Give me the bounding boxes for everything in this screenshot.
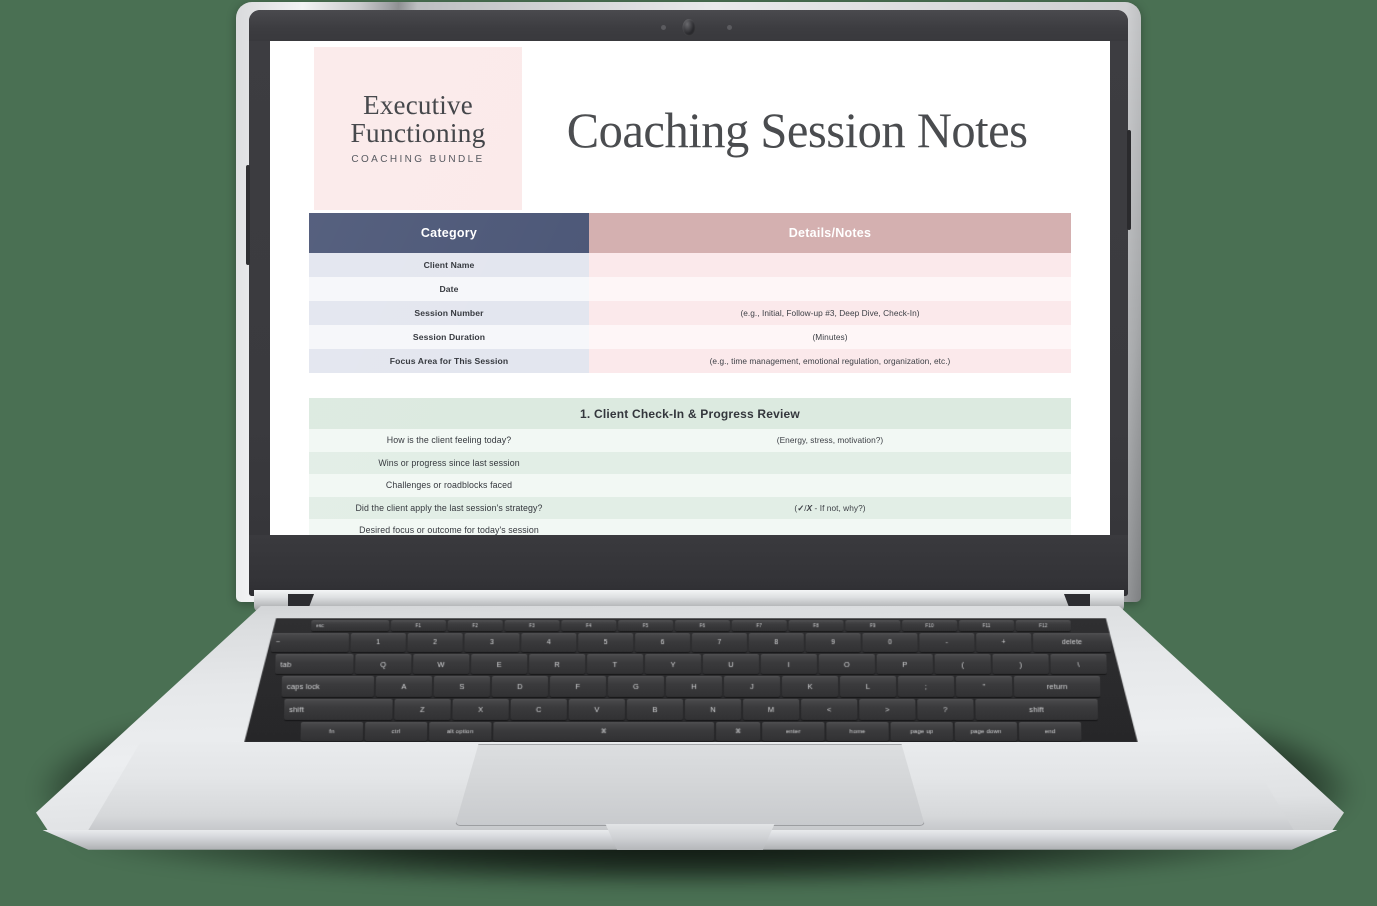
key-c[interactable]: C (511, 699, 567, 720)
table-row: Session Number (e.g., Initial, Follow-up… (309, 301, 1071, 325)
key-f7[interactable]: F7 (732, 620, 787, 631)
key-p[interactable]: P (877, 654, 933, 674)
table-row: Date (309, 277, 1071, 301)
table-row: Client Name (309, 253, 1071, 277)
key-9[interactable]: 9 (806, 633, 861, 652)
key-l[interactable]: L (840, 676, 896, 697)
base-front-notch (594, 824, 786, 850)
row-label: Date (309, 277, 589, 301)
key-8[interactable]: 8 (749, 633, 804, 652)
key-5[interactable]: 5 (578, 633, 633, 652)
key-tab[interactable]: tab (275, 654, 353, 674)
keyboard-row-numbers: ~1234567890-+delete (247, 633, 1135, 652)
key-alt-option[interactable]: alt option (429, 722, 491, 741)
key-[interactable]: ~ (271, 633, 349, 652)
session-info-table: Category Details/Notes Client Name Date (309, 213, 1071, 373)
row-label: Wins or progress since last session (309, 452, 589, 475)
key-fn[interactable]: fn (301, 722, 364, 741)
brand-logo: Executive Functioning COACHING BUNDLE (314, 47, 522, 210)
key-return[interactable]: return (1014, 676, 1101, 697)
key-[interactable]: > (859, 699, 915, 720)
session-info-body: Client Name Date Session Number (e.g., I… (309, 253, 1071, 373)
key-r[interactable]: R (529, 654, 585, 674)
lid-side-port-left (246, 165, 250, 265)
row-value[interactable]: (e.g., Initial, Follow-up #3, Deep Dive,… (589, 301, 1071, 325)
laptop-lid: Executive Functioning COACHING BUNDLE Co… (236, 2, 1141, 602)
row-value[interactable] (589, 474, 1071, 497)
key-u[interactable]: U (703, 654, 759, 674)
row-value[interactable] (589, 253, 1071, 277)
keyboard-row-qwerty: tabQWERTYUIOP()\ (246, 654, 1136, 674)
key-[interactable]: \ (1050, 654, 1106, 674)
key-[interactable]: < (801, 699, 857, 720)
key-z[interactable]: Z (394, 699, 450, 720)
row-value[interactable]: (✓/X - If not, why?) (589, 497, 1071, 520)
key-ctrl[interactable]: ctrl (365, 722, 428, 741)
table-row: Wins or progress since last session (309, 452, 1071, 475)
table-row: How is the client feeling today? (Energy… (309, 429, 1071, 452)
key-f1[interactable]: F1 (391, 620, 446, 631)
document-header: Executive Functioning COACHING BUNDLE Co… (270, 41, 1110, 213)
section-one-table: 1. Client Check-In & Progress Review How… (309, 398, 1071, 535)
key-[interactable]: ⌘ (493, 722, 714, 741)
key-6[interactable]: 6 (635, 633, 690, 652)
key-[interactable]: ⌘ (716, 722, 760, 741)
key-home[interactable]: home (826, 722, 888, 741)
key-f[interactable]: F (550, 676, 606, 697)
key-f11[interactable]: F11 (959, 620, 1014, 631)
keyboard[interactable]: escF1F2F3F4F5F6F7F8F9F10F11F12 ~12345678… (244, 618, 1137, 742)
row-label: Session Number (309, 301, 589, 325)
top-bezel (249, 10, 1128, 41)
row-value[interactable] (589, 277, 1071, 301)
key-[interactable]: " (956, 676, 1012, 697)
key-j[interactable]: J (724, 676, 780, 697)
logo-subtitle: COACHING BUNDLE (351, 154, 484, 165)
key-f9[interactable]: F9 (845, 620, 900, 631)
key-[interactable]: ( (935, 654, 991, 674)
key-w[interactable]: W (413, 654, 469, 674)
table-row: Challenges or roadblocks faced (309, 474, 1071, 497)
key-q[interactable]: Q (355, 654, 411, 674)
key-f6[interactable]: F6 (675, 620, 730, 631)
row-label: How is the client feeling today? (309, 429, 589, 452)
keyboard-rows: escF1F2F3F4F5F6F7F8F9F10F11F12 ~12345678… (244, 618, 1137, 742)
keyboard-row-function: escF1F2F3F4F5F6F7F8F9F10F11F12 (247, 620, 1134, 631)
row-value[interactable]: (e.g., time management, emotional regula… (589, 349, 1071, 373)
lid-side-port-right (1127, 130, 1131, 230)
key-e[interactable]: E (471, 654, 527, 674)
key-4[interactable]: 4 (521, 633, 576, 652)
key-f5[interactable]: F5 (618, 620, 673, 631)
key-a[interactable]: A (376, 676, 432, 697)
key-k[interactable]: K (782, 676, 838, 697)
key-f12[interactable]: F12 (1016, 620, 1071, 631)
row-value[interactable] (589, 452, 1071, 475)
trackpad[interactable] (455, 744, 925, 826)
key-caps-lock[interactable]: caps lock (282, 676, 375, 697)
key-[interactable]: - (919, 633, 974, 652)
key-m[interactable]: M (743, 699, 799, 720)
key-b[interactable]: B (627, 699, 683, 720)
key-shift[interactable]: shift (975, 699, 1098, 720)
key-shift[interactable]: shift (284, 699, 393, 720)
section-title-row: 1. Client Check-In & Progress Review (309, 398, 1071, 429)
key-3[interactable]: 3 (464, 633, 519, 652)
table-spacer (309, 373, 1071, 398)
row-value[interactable] (589, 519, 1071, 535)
key-x[interactable]: X (452, 699, 508, 720)
key-f4[interactable]: F4 (561, 620, 616, 631)
key-h[interactable]: H (666, 676, 722, 697)
key-0[interactable]: 0 (862, 633, 917, 652)
row-label: Desired focus or outcome for today's ses… (309, 519, 589, 535)
document-page: Executive Functioning COACHING BUNDLE Co… (270, 41, 1110, 535)
key-[interactable]: ) (993, 654, 1049, 674)
table-header-row: Category Details/Notes (309, 213, 1071, 253)
keyboard-row-bottom: shiftZXCVBNM<>?shift (245, 699, 1137, 720)
key-v[interactable]: V (569, 699, 625, 720)
key-i[interactable]: I (761, 654, 817, 674)
logo-line-2: Functioning (350, 119, 485, 147)
sensor-dot-left-icon (661, 25, 666, 30)
key-n[interactable]: N (685, 699, 741, 720)
column-header-category: Category (309, 213, 589, 253)
row-label: Focus Area for This Session (309, 349, 589, 373)
key-[interactable]: + (976, 633, 1031, 652)
table-row: Session Duration (Minutes) (309, 325, 1071, 349)
screenshot-stage: Executive Functioning COACHING BUNDLE Co… (0, 0, 1377, 906)
key-esc[interactable]: esc (311, 620, 389, 631)
row-label: Client Name (309, 253, 589, 277)
key-page-up[interactable]: page up (891, 722, 953, 741)
table-row: Desired focus or outcome for today's ses… (309, 519, 1071, 535)
column-header-details: Details/Notes (589, 213, 1071, 253)
key-enter[interactable]: enter (762, 722, 824, 741)
key-f10[interactable]: F10 (902, 620, 957, 631)
key-[interactable]: ? (917, 699, 973, 720)
table-row: Focus Area for This Session (e.g., time … (309, 349, 1071, 373)
row-value[interactable]: (Energy, stress, motivation?) (589, 429, 1071, 452)
key-d[interactable]: D (492, 676, 548, 697)
row-label: Challenges or roadblocks faced (309, 474, 589, 497)
key-[interactable]: ; (898, 676, 954, 697)
section-title: 1. Client Check-In & Progress Review (309, 398, 1071, 429)
key-7[interactable]: 7 (692, 633, 747, 652)
row-value[interactable]: (Minutes) (589, 325, 1071, 349)
page-title: Coaching Session Notes (530, 47, 1073, 155)
key-f3[interactable]: F3 (505, 620, 560, 631)
hint-suffix: - If not, why?) (812, 503, 865, 513)
row-label: Did the client apply the last session's … (309, 497, 589, 520)
key-o[interactable]: O (819, 654, 875, 674)
sensor-dot-right-icon (727, 25, 732, 30)
key-f2[interactable]: F2 (448, 620, 503, 631)
table-row: Did the client apply the last session's … (309, 497, 1071, 520)
keyboard-row-home: caps lockASDFGHJKL;"return (246, 676, 1137, 697)
logo-line-1: Executive (363, 92, 473, 120)
laptop-display[interactable]: Executive Functioning COACHING BUNDLE Co… (270, 41, 1110, 535)
row-label: Session Duration (309, 325, 589, 349)
key-delete[interactable]: delete (1033, 633, 1111, 652)
key-f8[interactable]: F8 (789, 620, 844, 631)
key-end[interactable]: end (1019, 722, 1082, 741)
key-s[interactable]: S (434, 676, 490, 697)
bottom-bezel (249, 535, 1128, 596)
webcam-icon (682, 19, 695, 36)
key-1[interactable]: 1 (351, 633, 406, 652)
keyboard-row-space: fnctrlalt option⌘⌘enterhomepage uppage d… (244, 722, 1137, 741)
key-t[interactable]: T (587, 654, 643, 674)
laptop-screen-bezel: Executive Functioning COACHING BUNDLE Co… (249, 10, 1128, 596)
key-y[interactable]: Y (645, 654, 701, 674)
key-page-down[interactable]: page down (955, 722, 1018, 741)
key-g[interactable]: G (608, 676, 664, 697)
key-2[interactable]: 2 (407, 633, 462, 652)
